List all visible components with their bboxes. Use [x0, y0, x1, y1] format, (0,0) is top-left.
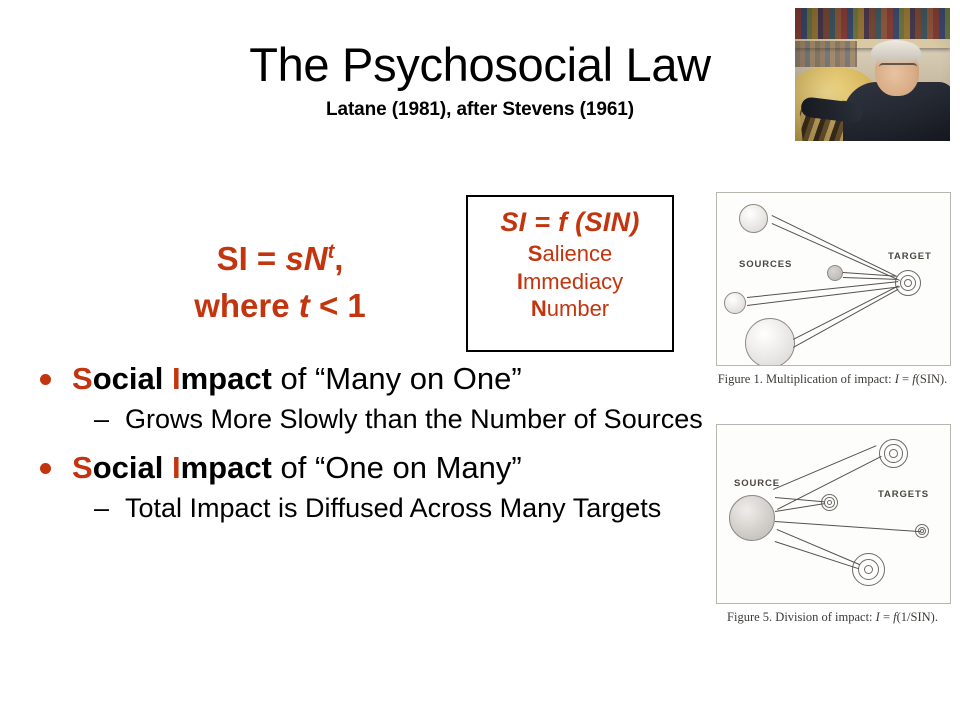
sin-term-number-rest: umber [547, 296, 609, 321]
figure-1-caption-prefix: Figure 1. Multiplication of impact: [718, 372, 895, 386]
bullet-1-word-social: ocial [93, 361, 172, 396]
figure-5-caption-prefix: Figure 5. Division of impact: [727, 610, 876, 624]
photo-vignette [795, 8, 950, 141]
figure-5-ray [777, 529, 860, 565]
figure-5-ray [775, 503, 825, 512]
bullet-marker-icon [40, 374, 51, 385]
figure-1-sources-label: SOURCES [739, 259, 792, 270]
figure-5-source [729, 495, 775, 541]
formula-comma: , [334, 240, 343, 277]
sin-term-immediacy-rest: mmediacy [523, 269, 623, 294]
sin-term-number-initial: N [531, 296, 547, 321]
formula-si-prefix: SI = [217, 240, 286, 277]
sin-term-salience-rest: alience [542, 241, 612, 266]
sub-bullet-total-impact-diffused: –Total Impact is Diffused Across Many Ta… [32, 493, 722, 525]
figure-5-block: SOURCE TARGETS Figure 5. Division of imp… [716, 424, 949, 625]
figure-5-caption: Figure 5. Division of impact: I = f(1/SI… [716, 610, 949, 625]
formula-line-2: where t < 1 [120, 283, 440, 330]
sin-term-salience: Salience [468, 241, 672, 268]
figure-1-target-label: TARGET [888, 251, 932, 262]
figure-1-target [895, 270, 921, 296]
figure-1-source-small-mid [827, 265, 843, 281]
slide-canvas: The Psychosocial Law Latane (1981), afte… [0, 0, 960, 720]
figure-5-target-bottom [852, 553, 885, 586]
figure-1-caption-eq: = [899, 372, 912, 386]
figure-1-caption-arg: (SIN). [916, 372, 948, 386]
author-photo [795, 8, 950, 141]
bullet-group-many-on-one: Social Impact of “Many on One” –Grows Mo… [32, 360, 722, 435]
formula-t-var: t [299, 287, 310, 324]
sub-bullet-dash-icon: – [94, 404, 109, 436]
bullet-group-one-on-many: Social Impact of “One on Many” –Total Im… [32, 449, 722, 524]
formula-sn-var: sN [285, 240, 327, 277]
bullet-2-word-impact: mpact [181, 450, 272, 485]
sin-term-salience-initial: S [528, 241, 543, 266]
sin-term-immediacy: Immediacy [468, 269, 672, 296]
figure-5-target-top [879, 439, 908, 468]
figure-1-caption: Figure 1. Multiplication of impact: I = … [716, 372, 949, 387]
bullet-2-tail: of “One on Many” [272, 450, 522, 485]
bullet-2-cap-s: S [72, 450, 93, 485]
sin-formula-heading: SI = f (SIN) [468, 206, 672, 240]
figure-1-block: SOURCES TARGET Figure 1. Multiplication … [716, 192, 949, 387]
bullet-1-tail: of “Many on One” [272, 361, 522, 396]
sub-bullet-2-text: Total Impact is Diffused Across Many Tar… [125, 493, 661, 523]
sin-definition-box: SI = f (SIN) Salience Immediacy Number [466, 195, 674, 352]
formula-inequality: < 1 [310, 287, 366, 324]
bullet-2-word-social: ocial [93, 450, 172, 485]
bullet-1-word-impact: mpact [181, 361, 272, 396]
figure-5-caption-eq: = [880, 610, 893, 624]
bullet-marker-icon [40, 463, 51, 474]
figure-5-ray [775, 521, 921, 532]
figure-1-source-large-top [739, 204, 768, 233]
figure-5-targets-label: TARGETS [878, 489, 929, 500]
formula-where-prefix: where [194, 287, 299, 324]
figure-1-image: SOURCES TARGET [716, 192, 951, 366]
bullet-1-cap-i: I [172, 361, 181, 396]
bullet-one-on-many: Social Impact of “One on Many” [32, 449, 722, 487]
figure-5-source-label: SOURCE [734, 478, 780, 489]
sub-bullet-grows-more-slowly: –Grows More Slowly than the Number of So… [32, 404, 722, 436]
bullet-list: Social Impact of “Many on One” –Grows Mo… [32, 360, 722, 539]
figure-1-source-largest-bottom [745, 318, 795, 366]
formula-line-1: SI = sNt, [120, 236, 440, 283]
figure-5-caption-arg: (1/SIN). [897, 610, 938, 624]
bullet-2-cap-i: I [172, 450, 181, 485]
sin-term-number: Number [468, 296, 672, 323]
figure-1-ray [843, 277, 897, 280]
bullet-many-on-one: Social Impact of “Many on One” [32, 360, 722, 398]
primary-formula: SI = sNt, where t < 1 [120, 236, 440, 330]
sub-bullet-1-text: Grows More Slowly than the Number of Sou… [125, 404, 703, 434]
figure-5-image: SOURCE TARGETS [716, 424, 951, 604]
bullet-1-cap-s: S [72, 361, 93, 396]
sub-bullet-dash-icon: – [94, 493, 109, 525]
figure-1-source-small-left [724, 292, 746, 314]
